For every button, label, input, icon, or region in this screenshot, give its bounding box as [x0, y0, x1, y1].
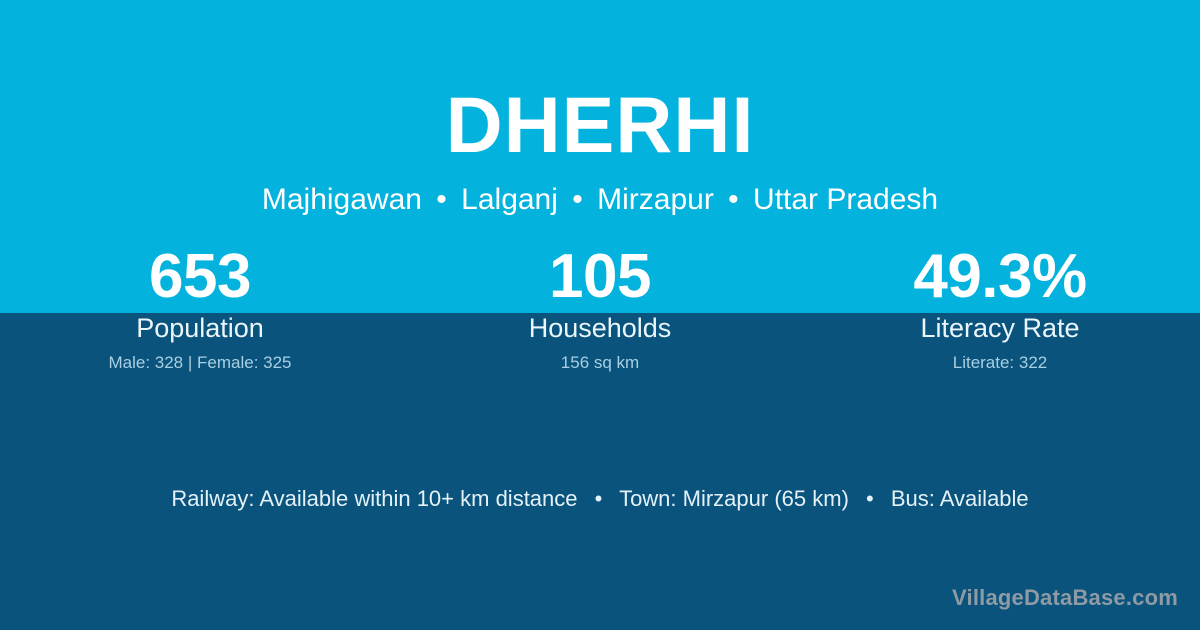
connectivity-bus: Bus: Available: [891, 486, 1029, 511]
stat-sublabel: 156 sq km: [400, 352, 800, 374]
breadcrumb-panchayat: Majhigawan: [262, 183, 422, 216]
breadcrumb-separator-3: •: [722, 183, 745, 216]
breadcrumb-block: Lalganj: [461, 183, 558, 216]
stat-sublabel: Literate: 322: [800, 352, 1200, 374]
connectivity-info: Railway: Available within 10+ km distanc…: [0, 484, 1200, 514]
connectivity-railway: Railway: Available within 10+ km distanc…: [171, 486, 577, 511]
stat-population: 653 Population Male: 328 | Female: 325: [0, 243, 400, 374]
page-title: DHERHI: [0, 80, 1200, 170]
stat-label: Literacy Rate: [800, 312, 1200, 344]
stat-literacy-rate: 49.3% Literacy Rate Literate: 322: [800, 243, 1200, 374]
breadcrumb-state: Uttar Pradesh: [753, 183, 938, 216]
connectivity-separator-2: •: [855, 486, 885, 511]
site-watermark: VillageDataBase.com: [952, 584, 1178, 612]
stat-value: 653: [0, 243, 400, 311]
breadcrumb-district: Mirzapur: [597, 183, 714, 216]
breadcrumb-separator-2: •: [566, 183, 589, 216]
breadcrumb: Majhigawan • Lalganj • Mirzapur • Uttar …: [0, 181, 1200, 219]
connectivity-separator-1: •: [584, 486, 614, 511]
village-info-card: DHERHI Majhigawan • Lalganj • Mirzapur •…: [0, 0, 1200, 630]
stat-sublabel: Male: 328 | Female: 325: [0, 352, 400, 374]
stats-row: 653 Population Male: 328 | Female: 325 1…: [0, 243, 1200, 374]
stat-label: Households: [400, 312, 800, 344]
stat-value: 49.3%: [800, 243, 1200, 311]
breadcrumb-separator-1: •: [430, 183, 453, 216]
connectivity-town: Town: Mirzapur (65 km): [619, 486, 849, 511]
stat-value: 105: [400, 243, 800, 311]
stat-label: Population: [0, 312, 400, 344]
card-content: DHERHI Majhigawan • Lalganj • Mirzapur •…: [0, 0, 1200, 630]
stat-households: 105 Households 156 sq km: [400, 243, 800, 374]
